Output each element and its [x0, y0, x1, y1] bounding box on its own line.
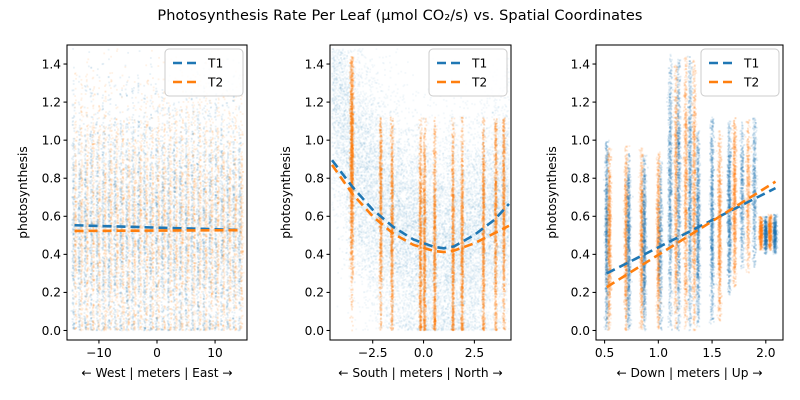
y-tick-label: 1.2 — [571, 95, 590, 109]
y-tick-label: 0.2 — [305, 286, 324, 300]
trend-lines — [607, 182, 776, 287]
y-tick-label: 0.8 — [571, 172, 590, 186]
y-tick-label: 1.2 — [42, 95, 61, 109]
legend-label-T1: T1 — [207, 56, 223, 70]
trend-line-T2 — [607, 182, 776, 287]
scatter-points — [331, 48, 510, 331]
y-axis-label: photosynthesis — [16, 146, 30, 239]
y-tick-label: 1.0 — [42, 133, 61, 147]
axes-frame — [330, 45, 511, 340]
trend-line-T1 — [607, 188, 776, 273]
trend-line-T2 — [332, 165, 509, 252]
legend-label-T2: T2 — [471, 75, 487, 89]
x-tick-label: 1.0 — [649, 346, 668, 360]
y-tick-label: 0.4 — [571, 248, 591, 262]
y-tick-label: 1.4 — [571, 57, 591, 71]
plot-area-2: 0.00.20.40.60.81.01.21.40.51.01.52.0← Do… — [0, 0, 800, 400]
y-tick-label: 0.4 — [42, 248, 62, 262]
y-tick-label: 0.0 — [571, 324, 590, 338]
x-tick-label: 0.0 — [414, 346, 433, 360]
x-tick-label: 2.0 — [756, 346, 775, 360]
trend-line-T1 — [75, 225, 241, 230]
axes-frame — [596, 45, 783, 340]
trend-lines — [332, 160, 509, 252]
y-tick-label: 0.0 — [305, 324, 324, 338]
legend-frame — [429, 49, 507, 96]
x-tick-label: 1.5 — [702, 346, 721, 360]
y-tick-label: 1.2 — [305, 95, 324, 109]
y-tick-label: 1.0 — [305, 133, 324, 147]
scatter-points — [603, 54, 779, 332]
x-axis-label: ← South | meters | North → — [338, 366, 502, 380]
axes-frame — [67, 45, 247, 340]
legend-frame — [701, 49, 779, 96]
x-tick-label: −2.5 — [358, 346, 388, 360]
legend-label-T1: T1 — [743, 56, 759, 70]
legend-label-T2: T2 — [743, 75, 759, 89]
legend-label-T2: T2 — [207, 75, 223, 89]
y-tick-label: 0.6 — [305, 210, 324, 224]
x-tick-label: 0 — [153, 346, 161, 360]
y-axis-label: photosynthesis — [545, 146, 559, 239]
plot-area-1: 0.00.20.40.60.81.01.21.4−2.50.02.5← Sout… — [0, 0, 800, 400]
y-axis-label: photosynthesis — [279, 146, 293, 239]
legend[interactable]: T1T2 — [701, 49, 779, 96]
trend-line-T2 — [75, 230, 241, 231]
x-tick-label: 0.5 — [595, 346, 614, 360]
figure-canvas: Photosynthesis Rate Per Leaf (μmol CO₂/s… — [0, 0, 800, 400]
y-tick-label: 0.8 — [305, 172, 324, 186]
y-tick-label: 0.6 — [571, 210, 590, 224]
y-tick-label: 0.2 — [571, 286, 590, 300]
y-tick-label: 0.0 — [42, 324, 61, 338]
y-tick-label: 1.4 — [305, 57, 325, 71]
panel-down-up: 0.00.20.40.60.81.01.21.40.51.01.52.0← Do… — [0, 0, 800, 400]
figure-title: Photosynthesis Rate Per Leaf (μmol CO₂/s… — [0, 8, 800, 24]
trend-line-T1 — [332, 160, 509, 248]
panel-south-north: 0.00.20.40.60.81.01.21.4−2.50.02.5← Sout… — [0, 0, 800, 400]
trend-lines — [75, 225, 241, 231]
y-tick-label: 1.4 — [42, 57, 62, 71]
x-tick-label: 10 — [207, 346, 223, 360]
panel-west-east: 0.00.20.40.60.81.01.21.4−10010← West | m… — [0, 0, 800, 400]
legend[interactable]: T1T2 — [429, 49, 507, 96]
x-tick-label: 2.5 — [465, 346, 484, 360]
legend[interactable]: T1T2 — [165, 49, 243, 96]
plot-area-0: 0.00.20.40.60.81.01.21.4−10010← West | m… — [0, 0, 800, 400]
legend-frame — [165, 49, 243, 96]
x-axis-label: ← Down | meters | Up → — [616, 366, 762, 380]
y-tick-label: 0.8 — [42, 172, 61, 186]
y-tick-label: 1.0 — [571, 133, 590, 147]
y-tick-label: 0.6 — [42, 210, 61, 224]
x-axis-label: ← West | meters | East → — [81, 366, 232, 380]
x-tick-label: −10 — [86, 346, 112, 360]
legend-label-T1: T1 — [471, 56, 487, 70]
y-tick-label: 0.4 — [305, 248, 325, 262]
y-tick-label: 0.2 — [42, 286, 61, 300]
scatter-points — [70, 48, 244, 331]
